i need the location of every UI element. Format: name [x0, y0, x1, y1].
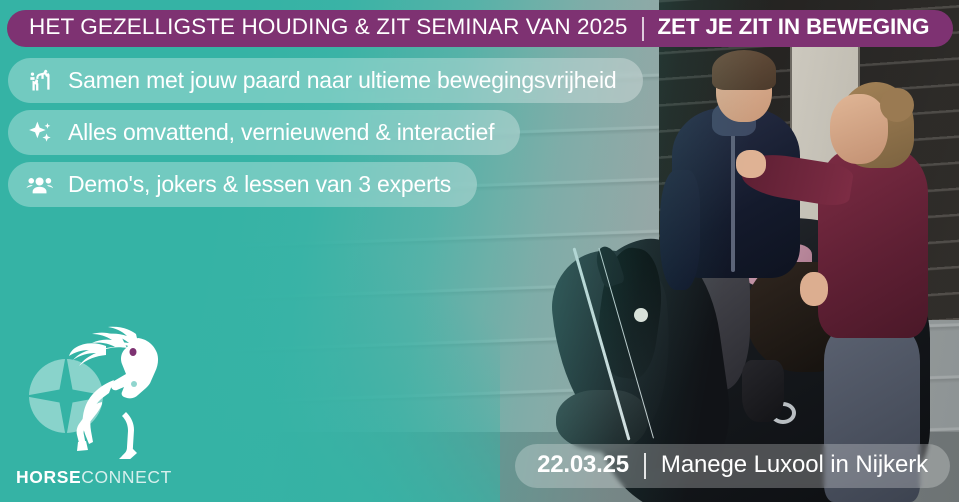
event-date: 22.03.25 — [537, 453, 629, 479]
header-title: HET GEZELLIGSTE HOUDING & ZIT SEMINAR VA… — [29, 16, 628, 41]
header-divider — [642, 17, 644, 41]
logo-word-bold: HORSE — [16, 467, 81, 487]
feature-pill-3: Demo's, jokers & lessen van 3 experts — [8, 162, 477, 207]
feature-pill-1-label: Samen met jouw paard naar ultieme bewegi… — [68, 69, 617, 92]
feature-pill-list: Samen met jouw paard naar ultieme bewegi… — [8, 58, 643, 207]
promo-banner: HET GEZELLIGSTE HOUDING & ZIT SEMINAR VA… — [0, 0, 959, 502]
feature-pill-2-label: Alles omvattend, vernieuwend & interacti… — [68, 121, 494, 144]
feature-pill-3-label: Demo's, jokers & lessen van 3 experts — [68, 173, 451, 196]
event-venue: Manege Luxool in Nijkerk — [661, 453, 928, 479]
event-details-pill: 22.03.25 Manege Luxool in Nijkerk — [515, 444, 950, 488]
logo-word-light: CONNECT — [81, 467, 172, 487]
feature-pill-2: Alles omvattend, vernieuwend & interacti… — [8, 110, 520, 155]
horseconnect-logo: HORSECONNECT — [10, 324, 178, 492]
header-tagline: ZET JE ZIT IN BEWEGING — [658, 16, 930, 41]
logo-wordmark: HORSECONNECT — [16, 469, 172, 487]
feature-pill-1: Samen met jouw paard naar ultieme bewegi… — [8, 58, 643, 103]
horse-icon — [26, 67, 54, 95]
header-bar: HET GEZELLIGSTE HOUDING & ZIT SEMINAR VA… — [7, 10, 953, 47]
compass-horse-emblem-icon — [10, 324, 178, 459]
sparkles-icon — [26, 119, 54, 147]
people-group-icon — [26, 171, 54, 199]
event-divider — [644, 453, 646, 479]
